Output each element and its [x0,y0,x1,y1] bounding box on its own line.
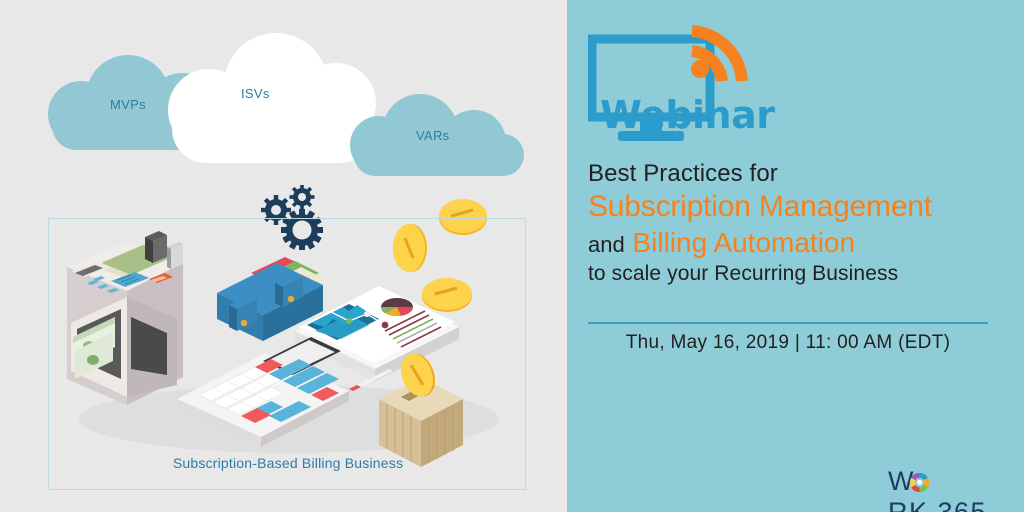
headline-line-4: to scale your Recurring Business [588,260,1018,288]
cloud-base [172,95,374,163]
work365-logo: W RK 365 [888,466,1012,500]
money-counter-machine [67,231,183,405]
headline-line-2: Subscription Management [588,189,1018,226]
date-divider [588,322,988,324]
work365-wordmark: W RK 365 [888,466,1012,512]
work365-rk365: RK 365 [888,497,987,512]
cloud-label-isvs: ISVs [241,86,270,101]
headline-billing-automation: Billing Automation [633,227,856,258]
illustration-caption: Subscription-Based Billing Business [49,455,527,471]
webinar-banner: MVPs ISVs VARs [0,0,1024,512]
cloud-label-vars: VARs [416,128,449,143]
illustration-frame: Subscription-Based Billing Business [48,218,526,490]
headline-block: Best Practices for Subscription Manageme… [588,160,1018,289]
left-illustration-panel: MVPs ISVs VARs [0,0,567,512]
headline-line-1: Best Practices for [588,160,1018,189]
puzzle-circle-icon [908,471,931,494]
headline-and: and [588,232,625,257]
cloud-isvs: ISVs [168,33,378,163]
headline-line-3: and Billing Automation [588,225,1018,260]
cloud-vars: VARs [350,94,528,176]
webinar-monitor-rss-icon: Webinar [588,25,778,155]
webinar-label: Webinar [600,93,775,137]
cloud-label-mvps: MVPs [110,97,146,112]
event-datetime: Thu, May 16, 2019 | 11: 00 AM (EDT) [588,332,988,354]
